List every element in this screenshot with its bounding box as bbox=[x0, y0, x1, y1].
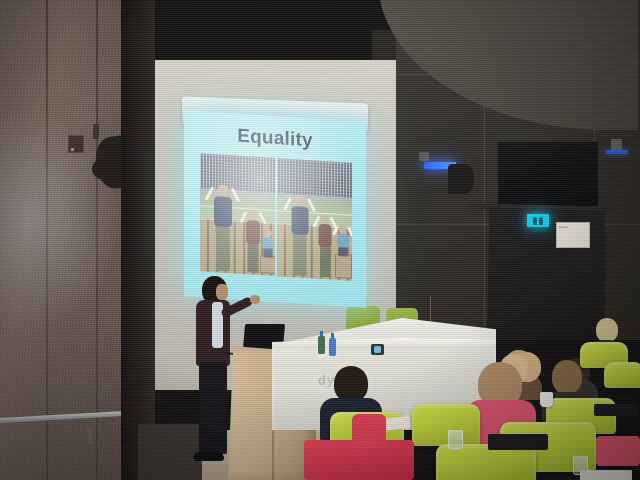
wall-notice-paper: Notice bbox=[556, 222, 590, 248]
wall-monitor bbox=[497, 141, 599, 211]
left-wall-panels bbox=[0, 0, 140, 480]
audience-head bbox=[334, 366, 368, 402]
handheld-camera bbox=[371, 344, 384, 355]
audience-laptop bbox=[488, 434, 548, 450]
red-bag bbox=[352, 414, 386, 448]
presenter-face bbox=[216, 284, 228, 300]
paper-cup bbox=[540, 392, 553, 407]
presenter-shoes bbox=[194, 452, 224, 461]
stadium-crowd bbox=[277, 158, 352, 198]
seat[interactable] bbox=[412, 404, 480, 446]
water-glass bbox=[448, 430, 463, 449]
red-bag bbox=[596, 436, 640, 466]
camera-screen bbox=[374, 346, 381, 353]
audience-laptop bbox=[594, 404, 638, 416]
slide-person-tall bbox=[289, 195, 311, 276]
wall-speaker-right bbox=[448, 164, 474, 194]
slide-box bbox=[335, 254, 352, 279]
slide-title: Equality bbox=[184, 122, 366, 155]
audience-head bbox=[596, 318, 618, 342]
slide-illustration bbox=[200, 153, 352, 281]
presenter-legs bbox=[199, 362, 227, 454]
led-sign-housing bbox=[419, 152, 429, 161]
wall-sensor bbox=[93, 124, 99, 139]
wall-socket-plate bbox=[68, 135, 84, 153]
slide-person-child bbox=[336, 226, 350, 257]
lecture-hall-photo: Notice Equality bbox=[0, 0, 640, 480]
water-bottle bbox=[329, 338, 336, 356]
restroom-figure-right bbox=[539, 217, 543, 225]
equality-panel bbox=[200, 153, 275, 276]
slide-person-tall bbox=[212, 184, 234, 271]
wall-corner-shadow bbox=[121, 0, 155, 480]
audience-notes bbox=[580, 470, 632, 480]
blue-indicator-light bbox=[606, 150, 628, 154]
slide-person-child bbox=[261, 229, 274, 258]
presenter-hand bbox=[250, 295, 260, 304]
restroom-sign-icon bbox=[527, 214, 549, 227]
audience-head bbox=[552, 360, 582, 394]
seat[interactable] bbox=[604, 362, 640, 388]
wall-plate-right bbox=[611, 139, 622, 150]
slide-person-medium bbox=[317, 215, 333, 278]
water-bottle bbox=[318, 336, 325, 354]
restroom-figure-left bbox=[533, 217, 537, 225]
equity-panel bbox=[277, 158, 352, 281]
